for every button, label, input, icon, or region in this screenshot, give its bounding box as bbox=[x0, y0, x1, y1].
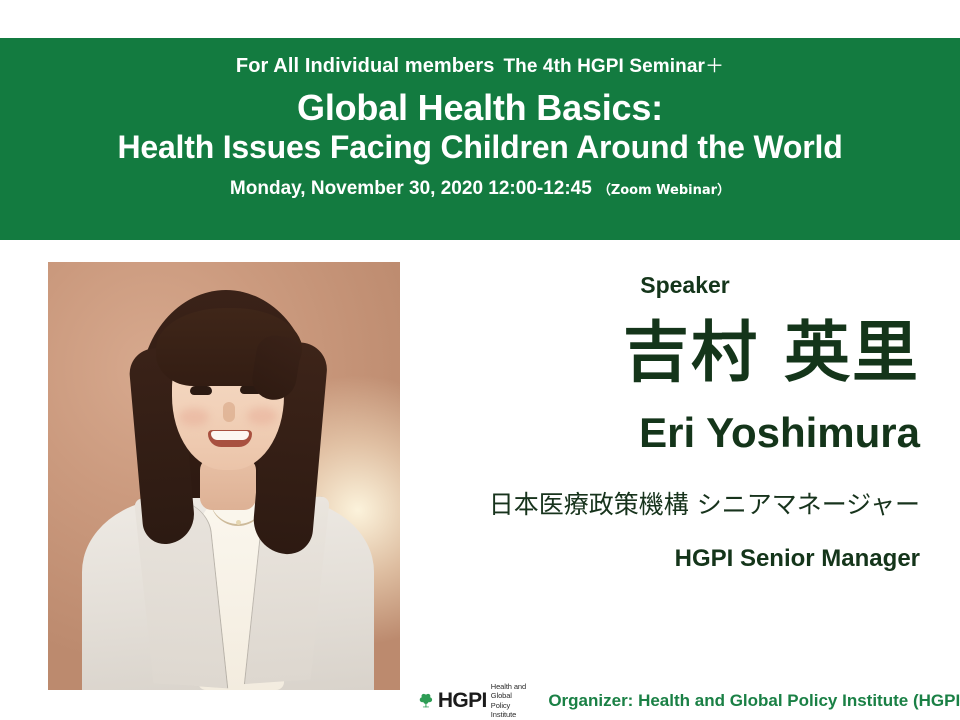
eyebrow-audience: For All Individual members bbox=[236, 55, 495, 77]
speaker-photo bbox=[48, 262, 400, 690]
page-title-line1: Global Health Basics: bbox=[297, 88, 663, 128]
hgpi-logo-subtitle-line1: Health and Global bbox=[491, 682, 527, 701]
speaker-title-japanese: 日本医療政策機構 シニアマネージャー bbox=[400, 490, 920, 520]
photo-eye-left bbox=[190, 386, 212, 395]
event-datetime: Monday, November 30, 2020 12:00-12:45 bbox=[230, 178, 592, 200]
tree-icon bbox=[418, 688, 434, 714]
hgpi-logo-wordmark: HGPI bbox=[438, 690, 487, 711]
event-datetime-row: Monday, November 30, 2020 12:00-12:45 （Z… bbox=[230, 178, 730, 200]
event-venue: （Zoom Webinar） bbox=[598, 179, 730, 198]
footer: HGPI Health and Global Policy Institute … bbox=[418, 682, 960, 720]
speaker-label: Speaker bbox=[470, 272, 900, 299]
seminar-slide: For All Individual membersThe 4th HGPI S… bbox=[0, 0, 960, 720]
photo-mouth bbox=[208, 430, 252, 447]
header-banner: For All Individual membersThe 4th HGPI S… bbox=[0, 38, 960, 240]
photo-cheek-left bbox=[179, 408, 209, 426]
speaker-name-japanese: 吉村 英里 bbox=[430, 316, 920, 390]
eyebrow-seminar-number: The 4th HGPI Seminar bbox=[503, 56, 705, 77]
photo-nose bbox=[223, 402, 235, 422]
hgpi-logo-subtitle-line2: Policy Institute bbox=[491, 701, 527, 720]
eyebrow-plus-mark: ＋ bbox=[705, 56, 724, 77]
photo-hair-fringe bbox=[156, 308, 302, 386]
photo-cheek-right bbox=[247, 407, 277, 425]
speaker-title-english: HGPI Senior Manager bbox=[430, 545, 920, 574]
hgpi-logo-subtitle: Health and Global Policy Institute bbox=[491, 682, 527, 720]
organizer-text: Organizer: Health and Global Policy Inst… bbox=[548, 691, 960, 711]
eyebrow-line: For All Individual membersThe 4th HGPI S… bbox=[236, 55, 724, 78]
page-title-line2: Health Issues Facing Children Around the… bbox=[117, 130, 842, 166]
hgpi-logo: HGPI Health and Global Policy Institute bbox=[418, 682, 526, 720]
speaker-name-english: Eri Yoshimura bbox=[430, 410, 920, 456]
